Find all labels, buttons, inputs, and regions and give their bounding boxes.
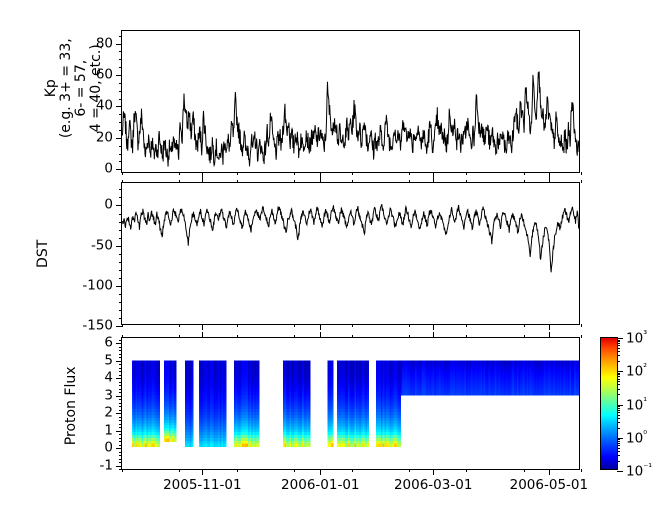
x-minor-tick-top — [122, 335, 123, 338]
colorbar-minor-tick — [617, 418, 620, 419]
y-minor-tick — [119, 385, 122, 386]
y-minor-tick — [119, 406, 122, 407]
y-minor-tick — [119, 122, 122, 123]
colorbar-minor-tick — [617, 461, 620, 462]
x-minor-tick-top — [294, 180, 295, 183]
colorbar-minor-tick — [617, 451, 620, 452]
x-minor-tick — [179, 324, 180, 327]
colorbar-minor-tick — [617, 455, 620, 456]
y-major-tick — [116, 431, 122, 432]
y-minor-tick — [119, 364, 122, 365]
x-minor-tick — [409, 324, 410, 327]
dst-line-series — [122, 183, 579, 324]
colorbar-minor-tick — [617, 428, 620, 429]
y-minor-tick — [119, 130, 122, 131]
colorbar-minor-tick — [617, 376, 620, 377]
x-minor-tick — [237, 324, 238, 327]
x-minor-tick — [352, 172, 353, 175]
kp-plot-area — [122, 31, 579, 172]
kp-axis-title-line-2: 6- = 57, — [74, 8, 89, 168]
y-minor-tick — [119, 294, 122, 295]
colorbar-minor-tick — [617, 374, 620, 375]
colorbar-minor-tick — [617, 384, 620, 385]
y-minor-tick — [119, 347, 122, 348]
y-major-tick — [116, 343, 122, 344]
x-minor-tick — [237, 469, 238, 472]
y-minor-tick — [119, 382, 122, 383]
colorbar-minor-tick — [617, 415, 620, 416]
colorbar-major-tick — [617, 405, 623, 406]
colorbar-minor-tick — [617, 410, 620, 411]
colorbar-minor-tick — [617, 412, 620, 413]
y-tick-label: -100 — [82, 279, 113, 293]
kp-axis-title-line-0: Kp — [44, 8, 59, 168]
x-major-tick-top — [433, 332, 434, 338]
y-minor-tick — [119, 392, 122, 393]
kp-axis-title: Kp(e.g. 3+ = 33,6- = 57,4 = 40, etc.) — [44, 8, 104, 168]
y-tick-label: 4 — [104, 372, 113, 386]
y-minor-tick — [119, 452, 122, 453]
y-major-tick — [116, 75, 122, 76]
colorbar-minor-tick — [617, 379, 620, 380]
y-minor-tick — [119, 222, 122, 223]
heatmap-band — [164, 360, 176, 441]
y-minor-tick — [119, 371, 122, 372]
colorbar-minor-tick — [617, 448, 620, 449]
y-minor-tick — [119, 455, 122, 456]
x-major-tick — [320, 324, 321, 330]
y-minor-tick — [119, 375, 122, 376]
y-tick-label: 0 — [104, 442, 113, 456]
y-minor-tick — [119, 262, 122, 263]
x-minor-tick — [237, 172, 238, 175]
colorbar-minor-tick — [617, 394, 620, 395]
colorbar-tick-label: 10¹ — [626, 397, 647, 413]
x-minor-tick-top — [581, 335, 582, 338]
kp-axis-title-line-3: 4 = 40, etc.) — [89, 8, 104, 168]
colorbar-minor-tick — [617, 345, 620, 346]
colorbar-exponent: ² — [643, 362, 647, 373]
y-minor-tick — [119, 354, 122, 355]
x-tick-label: 2005-11-01 — [163, 479, 241, 493]
colorbar-major-tick — [617, 438, 623, 439]
y-minor-tick — [119, 389, 122, 390]
x-minor-tick — [352, 469, 353, 472]
x-minor-tick-top — [179, 335, 180, 338]
x-major-tick-top — [320, 177, 321, 183]
x-minor-tick — [294, 324, 295, 327]
space-weather-figure: 020406080 Kp(e.g. 3+ = 33,6- = 57,4 = 40… — [0, 0, 665, 523]
y-minor-tick — [119, 340, 122, 341]
x-minor-tick-top — [581, 180, 582, 183]
panel-dst: 0-50-100-150 — [121, 182, 580, 325]
y-major-tick — [116, 205, 122, 206]
y-tick-label: 3 — [104, 389, 113, 403]
colorbar-minor-tick — [617, 341, 620, 342]
proton-flux-plot-area — [122, 338, 579, 469]
y-minor-tick — [119, 154, 122, 155]
panel-proton-flux: -10123456 2005-11-012006-01-012006-03-01… — [121, 337, 580, 470]
y-minor-tick — [119, 399, 122, 400]
x-major-tick — [320, 469, 321, 475]
colorbar-exponent: ¹ — [643, 396, 647, 407]
x-minor-tick — [352, 324, 353, 327]
x-minor-tick-top — [524, 180, 525, 183]
x-major-tick — [549, 324, 550, 330]
y-minor-tick — [119, 99, 122, 100]
colorbar-minor-tick — [617, 343, 620, 344]
x-minor-tick — [122, 324, 123, 327]
y-major-tick — [116, 246, 122, 247]
x-minor-tick — [122, 172, 123, 175]
y-minor-tick — [119, 278, 122, 279]
y-minor-tick — [119, 318, 122, 319]
y-tick-label: -1 — [100, 459, 113, 473]
x-minor-tick — [409, 172, 410, 175]
x-tick-label: 2006-01-01 — [281, 479, 359, 493]
y-major-tick — [116, 466, 122, 467]
x-major-tick — [433, 324, 434, 330]
y-major-tick — [116, 378, 122, 379]
y-minor-tick — [119, 434, 122, 435]
y-major-tick — [116, 413, 122, 414]
kp-line-series — [122, 31, 579, 172]
y-minor-tick — [119, 254, 122, 255]
y-minor-tick — [119, 310, 122, 311]
y-minor-tick — [119, 459, 122, 460]
y-minor-tick — [119, 420, 122, 421]
x-minor-tick — [524, 172, 525, 175]
x-minor-tick-top — [409, 180, 410, 183]
panel-kp: 020406080 — [121, 30, 580, 173]
colorbar-minor-tick — [617, 408, 620, 409]
colorbar-major-tick — [617, 371, 623, 372]
y-minor-tick — [119, 270, 122, 271]
x-minor-tick-top — [524, 335, 525, 338]
y-minor-tick — [119, 424, 122, 425]
y-minor-tick — [119, 445, 122, 446]
dst-axis-title: DST — [36, 224, 52, 284]
y-minor-tick — [119, 441, 122, 442]
y-minor-tick — [119, 350, 122, 351]
kp-axis-title-line-1: (e.g. 3+ = 33, — [59, 8, 74, 168]
colorbar-minor-tick — [617, 445, 620, 446]
colorbar-major-tick — [617, 471, 623, 472]
y-minor-tick — [119, 91, 122, 92]
x-minor-tick — [524, 324, 525, 327]
x-minor-tick — [466, 172, 467, 175]
colorbar: 10⁻¹10⁰10¹10²10³ — [600, 337, 618, 470]
x-minor-tick-top — [179, 180, 180, 183]
x-minor-tick — [179, 172, 180, 175]
y-tick-label: 0 — [104, 199, 113, 213]
y-minor-tick — [119, 214, 122, 215]
heatmap-band — [376, 360, 401, 447]
y-minor-tick — [119, 427, 122, 428]
y-minor-tick — [119, 357, 122, 358]
y-major-tick — [116, 361, 122, 362]
y-major-tick — [116, 44, 122, 45]
y-minor-tick — [119, 161, 122, 162]
y-major-tick — [116, 448, 122, 449]
y-minor-tick — [119, 403, 122, 404]
colorbar-tick-label: 10⁻¹ — [626, 463, 652, 479]
proton-flux-axis-title: Proton Flux — [64, 346, 80, 466]
x-minor-tick-top — [409, 335, 410, 338]
colorbar-minor-tick — [617, 441, 620, 442]
heatmap-band — [234, 360, 260, 447]
y-minor-tick — [119, 368, 122, 369]
heatmap-band — [328, 360, 334, 447]
dst-plot-area — [122, 183, 579, 324]
colorbar-minor-tick — [617, 361, 620, 362]
y-minor-tick — [119, 238, 122, 239]
y-tick-label: -50 — [91, 239, 113, 253]
x-major-tick-top — [320, 332, 321, 338]
x-minor-tick — [409, 469, 410, 472]
x-minor-tick-top — [352, 335, 353, 338]
x-minor-tick-top — [237, 335, 238, 338]
y-major-tick — [116, 286, 122, 287]
x-major-tick — [202, 324, 203, 330]
colorbar-major-tick — [617, 338, 623, 339]
y-minor-tick — [119, 189, 122, 190]
y-minor-tick — [119, 67, 122, 68]
x-major-tick — [202, 469, 203, 475]
y-minor-tick — [119, 114, 122, 115]
colorbar-minor-tick — [617, 348, 620, 349]
data-line — [122, 71, 579, 166]
x-minor-tick — [294, 172, 295, 175]
x-minor-tick-top — [352, 180, 353, 183]
colorbar-tick-label: 10² — [626, 363, 647, 379]
y-tick-label: 6 — [104, 337, 113, 351]
x-minor-tick — [524, 469, 525, 472]
y-tick-label: 5 — [104, 354, 113, 368]
x-minor-tick — [581, 172, 582, 175]
x-minor-tick-top — [466, 335, 467, 338]
y-major-tick — [116, 106, 122, 107]
colorbar-minor-tick — [617, 443, 620, 444]
x-tick-label: 2006-03-01 — [394, 479, 472, 493]
colorbar-tick-label: 10⁰ — [626, 430, 647, 446]
colorbar-exponent: ³ — [643, 329, 647, 340]
y-major-tick — [116, 138, 122, 139]
y-minor-tick — [119, 83, 122, 84]
y-minor-tick — [119, 410, 122, 411]
x-major-tick — [549, 469, 550, 475]
x-major-tick-top — [202, 177, 203, 183]
x-major-tick-top — [549, 332, 550, 338]
y-minor-tick — [119, 462, 122, 463]
y-tick-label: 1 — [104, 424, 113, 438]
heatmap-band — [337, 360, 369, 447]
x-tick-label: 2006-05-01 — [510, 479, 588, 493]
x-minor-tick — [466, 324, 467, 327]
colorbar-minor-tick — [617, 340, 620, 341]
x-major-tick-top — [202, 332, 203, 338]
colorbar-gradient — [601, 338, 617, 469]
colorbar-exponent: ⁰ — [643, 429, 647, 440]
x-minor-tick — [581, 469, 582, 472]
heatmap-band — [283, 360, 311, 447]
y-tick-label: 0 — [104, 163, 113, 177]
y-tick-label: 2 — [104, 407, 113, 421]
heatmap-band — [185, 360, 194, 447]
y-minor-tick — [119, 230, 122, 231]
x-minor-tick — [294, 469, 295, 472]
y-minor-tick — [119, 302, 122, 303]
x-minor-tick-top — [466, 180, 467, 183]
y-minor-tick — [119, 59, 122, 60]
y-minor-tick — [119, 36, 122, 37]
colorbar-minor-tick — [617, 389, 620, 390]
x-major-tick-top — [433, 177, 434, 183]
y-major-tick — [116, 396, 122, 397]
y-tick-label: -150 — [82, 319, 113, 333]
colorbar-minor-tick — [617, 381, 620, 382]
y-minor-tick — [119, 438, 122, 439]
x-minor-tick-top — [294, 335, 295, 338]
x-minor-tick — [122, 469, 123, 472]
x-major-tick-top — [549, 177, 550, 183]
data-line — [122, 204, 579, 272]
colorbar-minor-tick — [617, 406, 620, 407]
y-minor-tick — [119, 197, 122, 198]
heatmap-band — [199, 360, 227, 447]
colorbar-minor-tick — [617, 351, 620, 352]
y-major-tick — [116, 169, 122, 170]
x-minor-tick-top — [237, 180, 238, 183]
colorbar-minor-tick — [617, 373, 620, 374]
colorbar-exponent: ⁻¹ — [643, 462, 652, 473]
x-minor-tick-top — [122, 180, 123, 183]
y-minor-tick — [119, 51, 122, 52]
x-minor-tick — [581, 324, 582, 327]
colorbar-minor-tick — [617, 439, 620, 440]
x-major-tick — [433, 469, 434, 475]
y-minor-tick — [119, 146, 122, 147]
proton-flux-heatmap — [122, 338, 579, 469]
colorbar-minor-tick — [617, 355, 620, 356]
heatmap-band — [132, 360, 160, 447]
x-minor-tick — [466, 469, 467, 472]
x-minor-tick — [179, 469, 180, 472]
colorbar-tick-label: 10³ — [626, 330, 647, 346]
heatmap-band — [401, 360, 579, 395]
y-minor-tick — [119, 417, 122, 418]
colorbar-minor-tick — [617, 422, 620, 423]
